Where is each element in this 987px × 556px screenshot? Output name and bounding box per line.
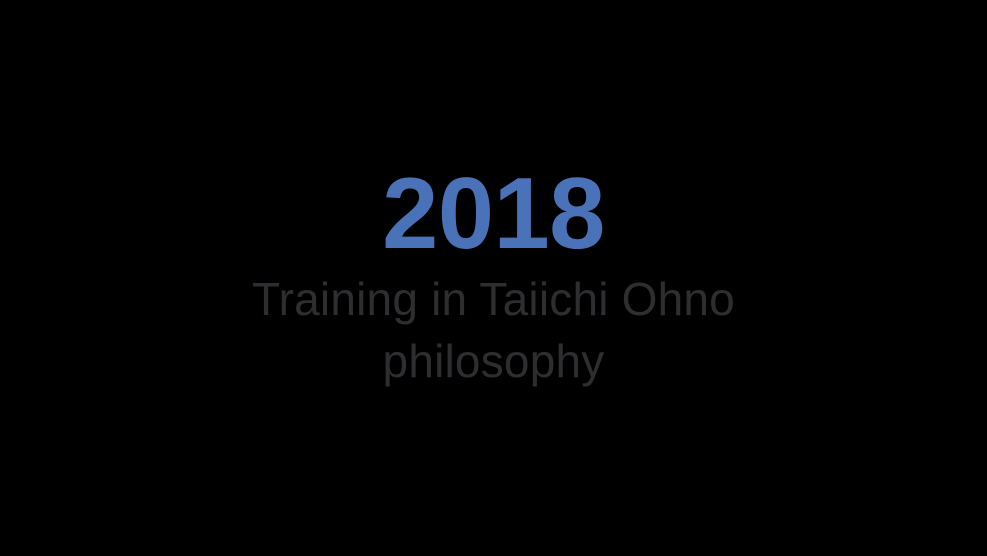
milestone-year: 2018	[382, 164, 605, 265]
milestone-caption: Training in Taiichi Ohno philosophy	[194, 269, 794, 392]
milestone-block: 2018 Training in Taiichi Ohno philosophy	[0, 0, 987, 556]
slide-canvas: 2018 Training in Taiichi Ohno philosophy	[0, 0, 987, 556]
